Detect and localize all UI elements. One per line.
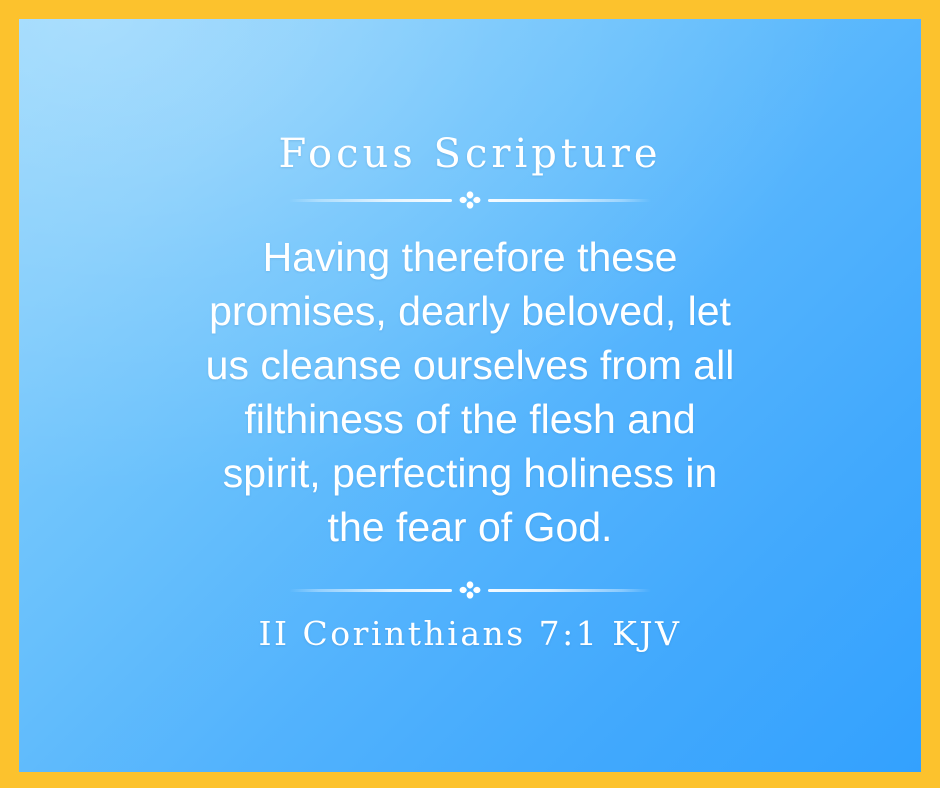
scripture-citation: II Corinthians 7:1 KJV bbox=[259, 614, 682, 654]
divider-rule-right bbox=[488, 589, 651, 592]
divider-bottom bbox=[289, 580, 651, 600]
verse-text: Having therefore these promises, dearly … bbox=[190, 230, 750, 554]
four-petal-ornament-icon bbox=[457, 190, 483, 210]
card-content: Focus Scripture Having therefore these p… bbox=[0, 0, 940, 788]
divider-rule-left bbox=[289, 589, 452, 592]
divider-rule-left bbox=[289, 199, 452, 202]
card-heading: Focus Scripture bbox=[278, 134, 661, 174]
four-petal-ornament-icon bbox=[457, 580, 483, 600]
divider-rule-right bbox=[488, 199, 651, 202]
scripture-card: Focus Scripture Having therefore these p… bbox=[0, 0, 940, 788]
divider-top bbox=[289, 190, 651, 210]
